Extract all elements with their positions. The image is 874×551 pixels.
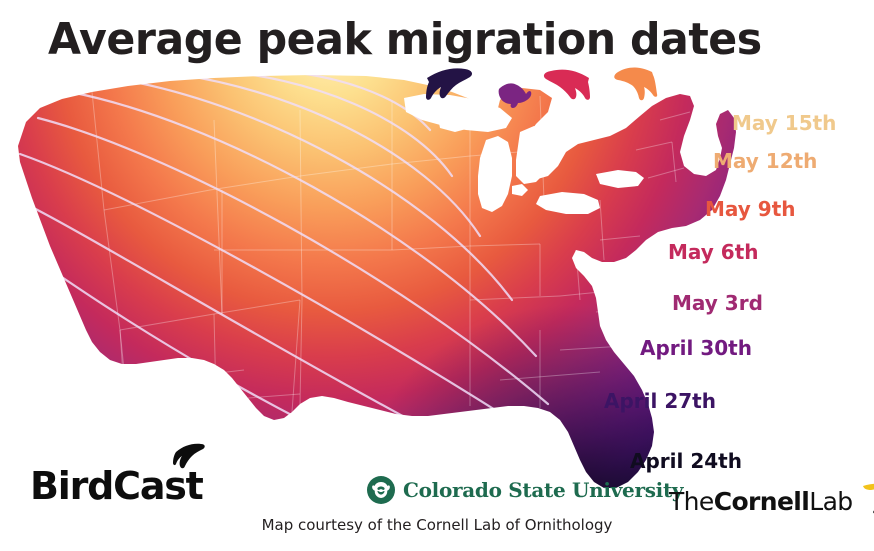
date-label-april-27: April 27th — [604, 390, 716, 412]
map-caption: Map courtesy of the Cornell Lab of Ornit… — [0, 516, 874, 534]
bird-silhouette-orange — [614, 68, 657, 101]
cornell-lab-text: TheCornellLab — [669, 488, 853, 515]
cornell-lab-logo[interactable]: TheCornellLab — [669, 478, 874, 515]
colorado-state-university-logo[interactable]: Colorado State University — [366, 475, 683, 505]
date-label-may-12: May 12th — [713, 150, 817, 172]
bird-silhouette-crimson — [544, 70, 590, 100]
csu-ram-icon — [366, 475, 396, 505]
cornell-lab: Lab — [809, 487, 852, 516]
date-label-may-6: May 6th — [668, 241, 759, 263]
cornell-cornell: Cornell — [714, 487, 810, 516]
cornell-the: The — [669, 487, 714, 516]
birdcast-logo[interactable]: BirdCast — [30, 466, 203, 506]
date-label-may-15: May 15th — [732, 112, 836, 134]
date-label-may-3: May 3rd — [672, 292, 763, 314]
infographic-root: Average peak migration dates May 15th Ma… — [0, 0, 874, 551]
csu-logo-text: Colorado State University — [403, 479, 683, 501]
date-label-april-24: April 24th — [630, 450, 742, 472]
page-title: Average peak migration dates — [48, 14, 762, 66]
date-label-may-9: May 9th — [705, 198, 796, 220]
cornell-woodpecker-icon — [855, 478, 874, 518]
date-label-april-30: April 30th — [640, 337, 752, 359]
